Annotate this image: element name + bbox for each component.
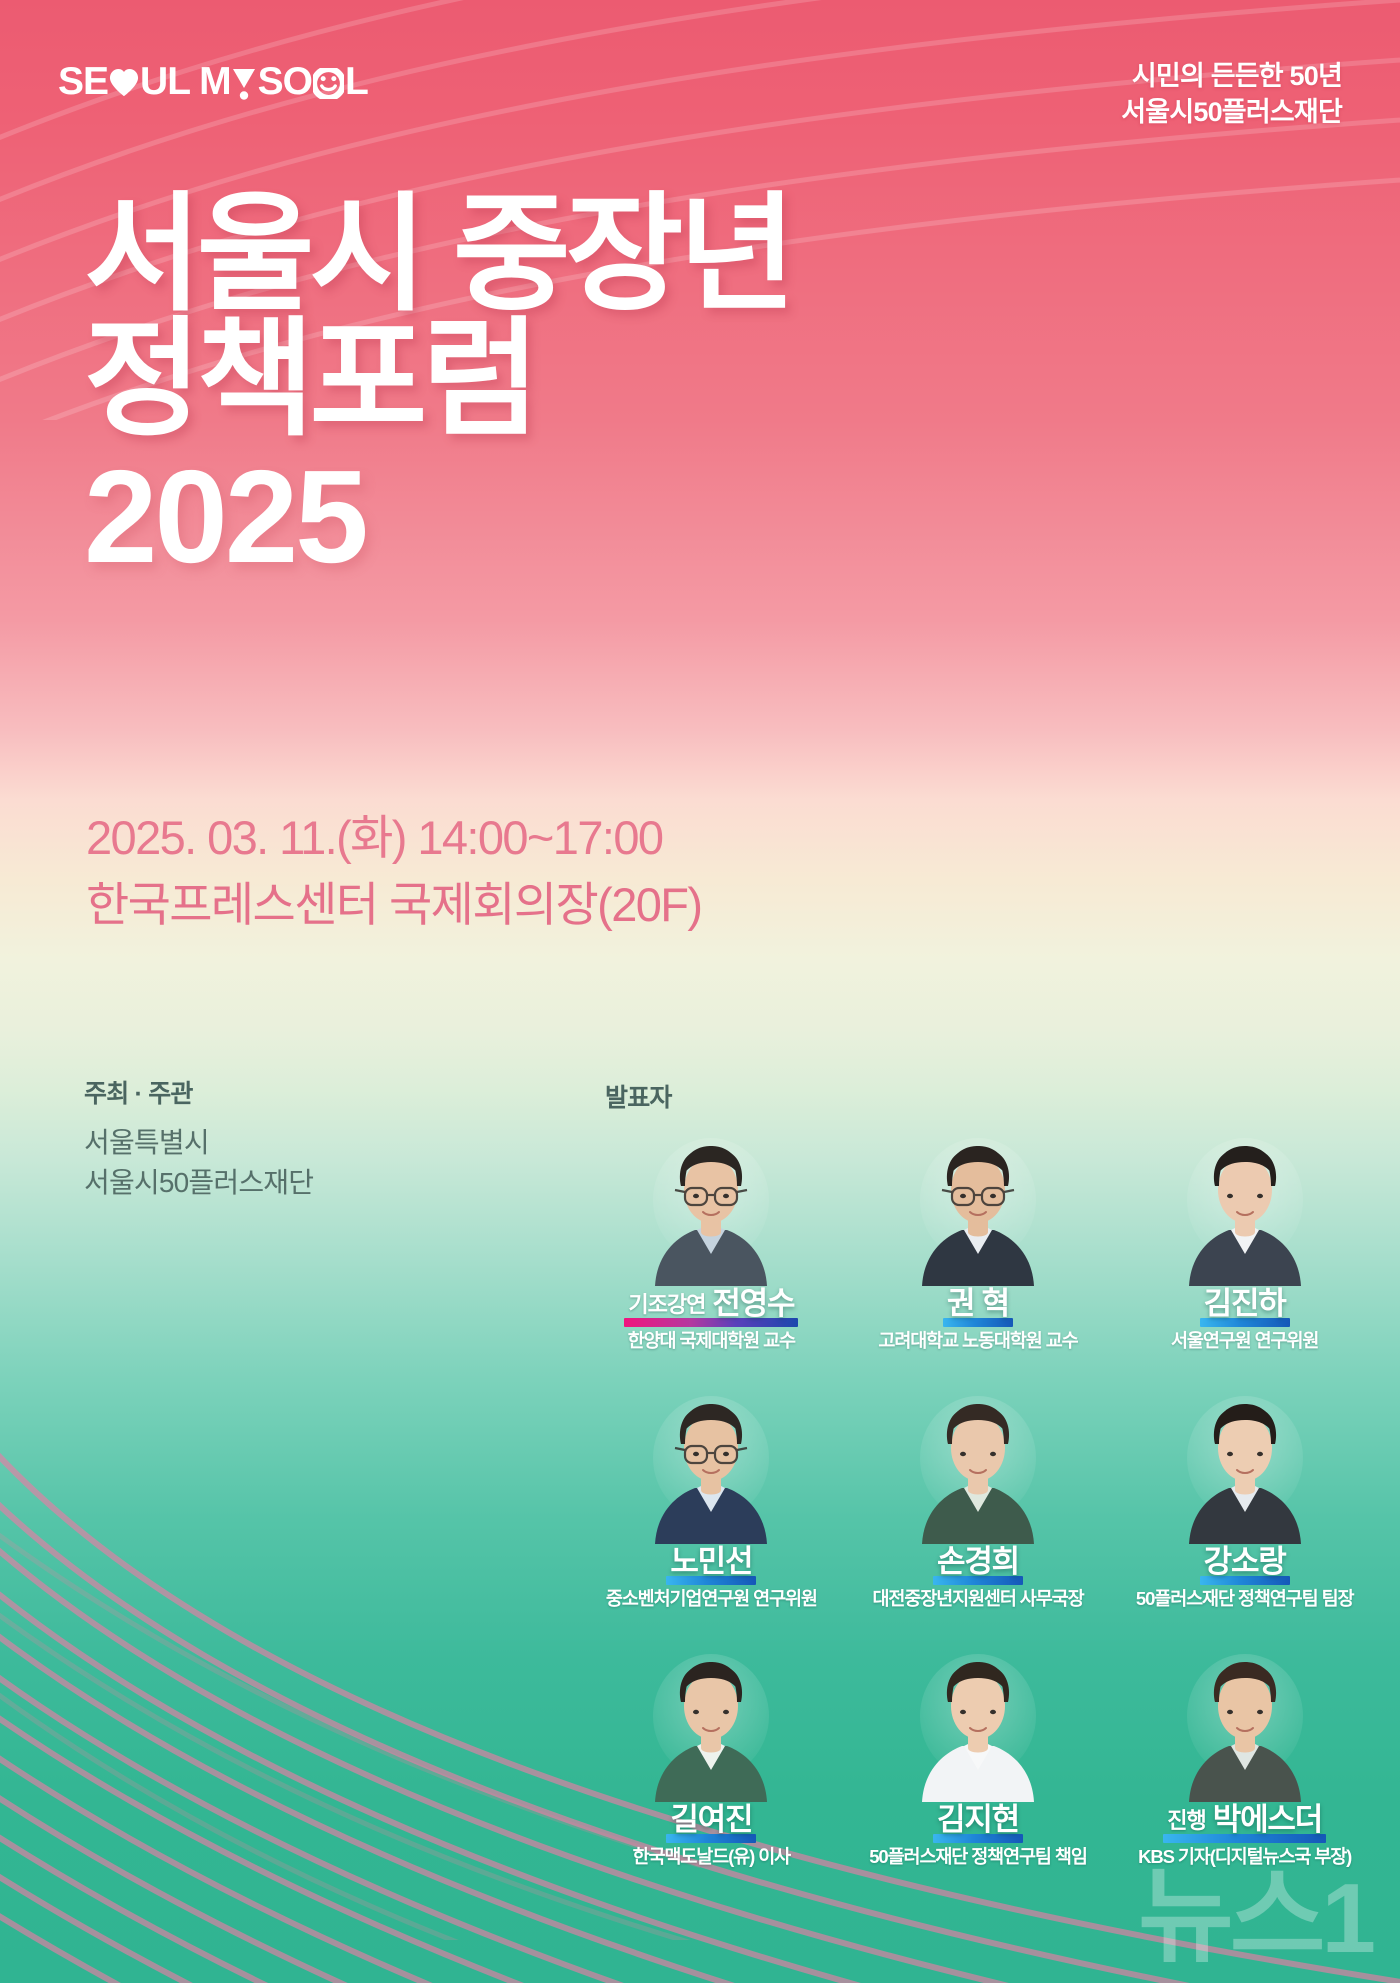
heart-icon bbox=[109, 68, 139, 98]
presenters-label: 발표자 bbox=[605, 1078, 672, 1114]
presenter-card: 강소랑50플러스재단 정책연구팀 팀장 bbox=[1111, 1386, 1378, 1636]
presenter-name: 권 혁 bbox=[947, 1288, 1009, 1319]
portrait-woman-dark-hair-blazer bbox=[1179, 1128, 1311, 1286]
event-poster: SE UL M SO L 시민의 든든한 50년 서울시50플러스재단 서울시 … bbox=[0, 0, 1400, 1983]
seoul-my-soul-logo: SE UL M SO L bbox=[58, 62, 368, 101]
presenter-name: 박에스더 bbox=[1213, 1804, 1322, 1835]
title-year: 2025 bbox=[84, 451, 791, 583]
presenter-affiliation: 50플러스재단 정책연구팀 책임 bbox=[869, 1846, 1087, 1868]
presenter-name: 김지현 bbox=[937, 1804, 1019, 1835]
page-title: 서울시 중장년 정책포럼 2025 bbox=[84, 192, 791, 583]
logo-text-part1: SE bbox=[58, 62, 108, 101]
presenter-card: 김진하서울연구원 연구위원 bbox=[1111, 1128, 1378, 1378]
portrait-man-glasses-navy-suit bbox=[645, 1386, 777, 1544]
portrait-man-glasses-suit-tie bbox=[912, 1128, 1044, 1286]
portrait-woman-updo-dark-jacket bbox=[1179, 1386, 1311, 1544]
host-entity: 서울특별시 bbox=[84, 1123, 313, 1163]
event-details: 2025. 03. 11.(화) 14:00~17:00 한국프레스센터 국제회… bbox=[86, 805, 701, 938]
presenter-name: 노민선 bbox=[670, 1546, 752, 1577]
presenter-name-row: 김지현 bbox=[931, 1804, 1025, 1843]
presenter-name-row: 강소랑 bbox=[1198, 1546, 1292, 1585]
presenter-name: 손경희 bbox=[937, 1546, 1019, 1577]
presenter-card: 손경희대전중장년지원센터 사무국장 bbox=[845, 1386, 1112, 1636]
news1-watermark: 뉴스1 bbox=[1138, 1865, 1372, 1969]
portrait-woman-shoulder-length-hair bbox=[912, 1386, 1044, 1544]
presenter-affiliation: 한국맥도날드(유) 이사 bbox=[633, 1846, 790, 1868]
presenter-name: 전영수 bbox=[712, 1288, 794, 1319]
presenter-name-row: 권 혁 bbox=[941, 1288, 1015, 1327]
host-section: 주최 · 주관 서울특별시 서울시50플러스재단 bbox=[84, 1074, 313, 1203]
presenter-affiliation: 고려대학교 노동대학원 교수 bbox=[878, 1330, 1077, 1352]
smiley-o-icon bbox=[313, 68, 344, 99]
presenter-affiliation: 중소벤처기업연구원 연구위원 bbox=[606, 1588, 817, 1610]
presenter-card: 노민선중소벤처기업연구원 연구위원 bbox=[578, 1386, 845, 1636]
portrait-woman-short-curly-hair bbox=[1179, 1644, 1311, 1802]
presenter-affiliation: 한양대 국제대학원 교수 bbox=[628, 1330, 795, 1352]
presenter-name: 길여진 bbox=[670, 1804, 752, 1835]
event-datetime: 2025. 03. 11.(화) 14:00~17:00 bbox=[86, 805, 701, 872]
exclamation-triangle-icon bbox=[232, 68, 256, 100]
event-venue: 한국프레스센터 국제회의장(20F) bbox=[86, 872, 701, 939]
presenter-role-tag: 기조강연 bbox=[628, 1294, 705, 1319]
host-entity: 서울시50플러스재단 bbox=[84, 1163, 313, 1203]
presenter-name-row: 기조강연전영수 bbox=[622, 1288, 800, 1327]
presenter-card: 권 혁고려대학교 노동대학원 교수 bbox=[845, 1128, 1112, 1378]
foundation-tagline-line1: 시민의 든든한 50년 bbox=[1121, 58, 1342, 94]
presenters-grid: 기조강연전영수한양대 국제대학원 교수 bbox=[578, 1128, 1378, 1894]
title-line-1: 서울시 중장년 bbox=[84, 192, 791, 317]
portrait-woman-bob-green-top bbox=[645, 1644, 777, 1802]
title-line-2: 정책포럼 bbox=[84, 317, 791, 442]
presenter-name: 강소랑 bbox=[1204, 1546, 1286, 1577]
presenter-name-row: 길여진 bbox=[664, 1804, 758, 1843]
presenter-affiliation: 서울연구원 연구위원 bbox=[1171, 1330, 1318, 1352]
foundation-tagline-line2: 서울시50플러스재단 bbox=[1121, 94, 1342, 130]
host-label: 주최 · 주관 bbox=[84, 1074, 313, 1110]
presenter-affiliation: 50플러스재단 정책연구팀 팀장 bbox=[1136, 1588, 1354, 1610]
presenter-name-row: 노민선 bbox=[664, 1546, 758, 1585]
presenter-name-row: 손경희 bbox=[931, 1546, 1025, 1585]
presenter-affiliation: 대전중장년지원센터 사무국장 bbox=[872, 1588, 1083, 1610]
watermark-text: 뉴스 bbox=[1138, 1865, 1321, 1969]
presenter-name-row: 진행박에스더 bbox=[1161, 1804, 1328, 1843]
presenter-card: 기조강연전영수한양대 국제대학원 교수 bbox=[578, 1128, 845, 1378]
foundation-tagline: 시민의 든든한 50년 서울시50플러스재단 bbox=[1121, 58, 1342, 130]
presenter-name-row: 김진하 bbox=[1198, 1288, 1292, 1327]
logo-text-part4: L bbox=[345, 62, 368, 101]
watermark-suffix: 1 bbox=[1321, 1863, 1372, 1973]
presenter-card: 진행박에스더KBS 기자(디지털뉴스국 부장) bbox=[1111, 1644, 1378, 1894]
logo-text-part2: UL M bbox=[140, 62, 231, 101]
presenter-name: 김진하 bbox=[1204, 1288, 1286, 1319]
logo-text-part3: SO bbox=[258, 62, 312, 101]
presenter-card: 김지현50플러스재단 정책연구팀 책임 bbox=[845, 1644, 1112, 1894]
presenter-card: 길여진한국맥도날드(유) 이사 bbox=[578, 1644, 845, 1894]
portrait-man-glasses-hand-on-chin bbox=[645, 1128, 777, 1286]
portrait-woman-long-hair-white-top bbox=[912, 1644, 1044, 1802]
presenter-role-tag: 진행 bbox=[1167, 1810, 1205, 1835]
